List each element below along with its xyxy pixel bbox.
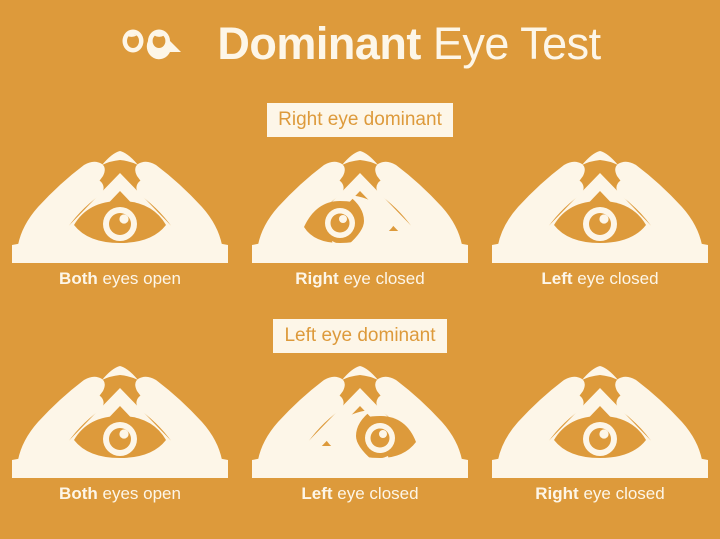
two-eyes-icon bbox=[119, 19, 211, 68]
caption-rest: eyes open bbox=[98, 484, 181, 503]
caption-strong: Both bbox=[59, 269, 98, 288]
hands-triangle-eye-open-centered-art bbox=[12, 145, 228, 263]
panel-caption-left-eye-closed-top: Left eye closed bbox=[541, 270, 658, 287]
panel-right-eye-closed-top[interactable]: Right eye closed bbox=[252, 145, 468, 287]
caption-rest: eye closed bbox=[573, 269, 659, 288]
panel-caption-right-eye-closed-bottom: Right eye closed bbox=[535, 485, 664, 502]
panel-right-eye-closed-bottom[interactable]: Right eye closed bbox=[492, 360, 708, 502]
panel-caption-right-eye-closed-top: Right eye closed bbox=[295, 270, 424, 287]
section-label-left-eye-dominant: Left eye dominant bbox=[273, 319, 446, 353]
page-title-bold: Dominant bbox=[217, 18, 421, 69]
caption-rest: eye closed bbox=[579, 484, 665, 503]
hands-triangle-eye-open-centered-art bbox=[12, 360, 228, 478]
caption-rest: eyes open bbox=[98, 269, 181, 288]
panel-caption-both-eyes-open-bottom: Both eyes open bbox=[59, 485, 181, 502]
panel-both-eyes-open-bottom[interactable]: Both eyes open bbox=[12, 360, 228, 502]
hands-triangle-eye-shifted-left-art bbox=[252, 145, 468, 263]
hands-triangle-eye-shifted-right-art bbox=[252, 360, 468, 478]
panel-both-eyes-open-top[interactable]: Both eyes open bbox=[12, 145, 228, 287]
panel-row-left-eye-dominant: Both eyes open bbox=[0, 360, 720, 502]
panel-left-eye-closed-bottom[interactable]: Left eye closed bbox=[252, 360, 468, 502]
caption-strong: Right bbox=[295, 269, 338, 288]
caption-rest: eye closed bbox=[339, 269, 425, 288]
caption-strong: Right bbox=[535, 484, 578, 503]
section-band-right-eye-dominant: Right eye dominant bbox=[0, 103, 720, 137]
page-header: Dominant Eye Test bbox=[0, 0, 720, 86]
panel-row-right-eye-dominant: Both eyes open bbox=[0, 145, 720, 287]
hands-triangle-eye-open-centered-art bbox=[492, 360, 708, 478]
page-title: Dominant Eye Test bbox=[217, 21, 600, 66]
caption-rest: eye closed bbox=[333, 484, 419, 503]
caption-strong: Left bbox=[541, 269, 572, 288]
section-band-left-eye-dominant: Left eye dominant bbox=[0, 319, 720, 353]
section-label-right-eye-dominant: Right eye dominant bbox=[267, 103, 453, 137]
panel-caption-left-eye-closed-bottom: Left eye closed bbox=[301, 485, 418, 502]
panel-left-eye-closed-top[interactable]: Left eye closed bbox=[492, 145, 708, 287]
panel-caption-both-eyes-open-top: Both eyes open bbox=[59, 270, 181, 287]
page-title-light: Eye Test bbox=[421, 18, 601, 69]
caption-strong: Left bbox=[301, 484, 332, 503]
hands-triangle-eye-open-centered-art bbox=[492, 145, 708, 263]
caption-strong: Both bbox=[59, 484, 98, 503]
